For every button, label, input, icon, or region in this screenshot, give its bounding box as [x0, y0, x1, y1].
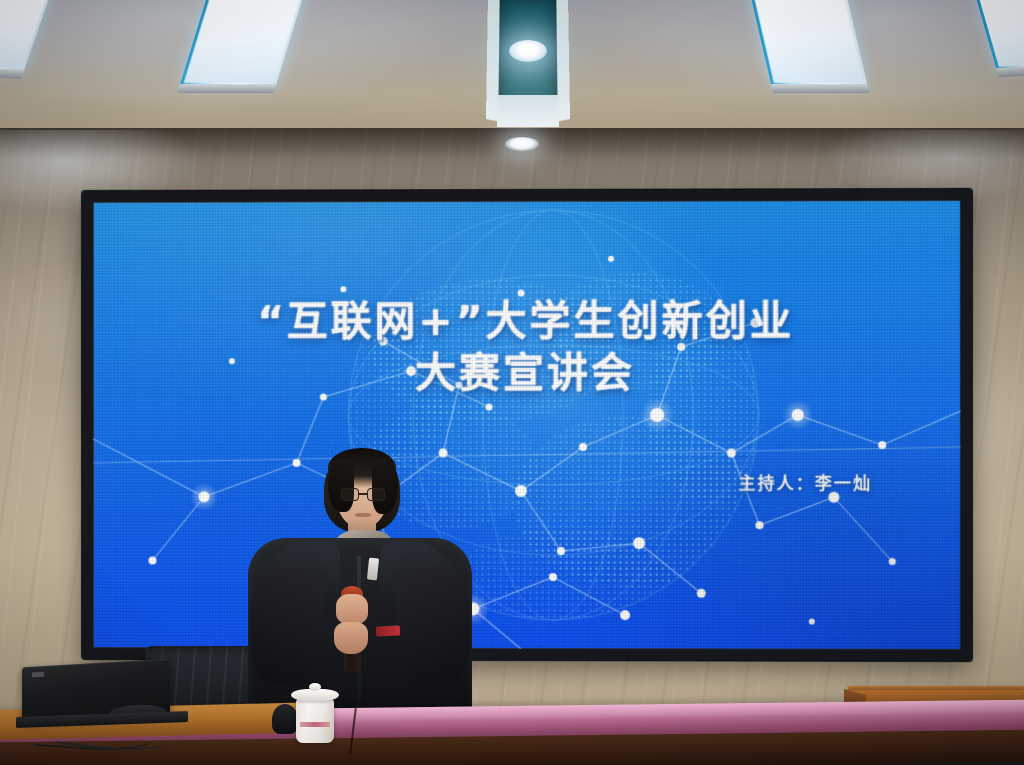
slide-title-line-1: “互联网+”大学生创新创业 [93, 298, 961, 345]
light-panel-lip [771, 84, 869, 93]
presenter-hair-fringe-right [372, 458, 398, 514]
glasses-icon [341, 488, 385, 501]
presenter-hand-lower [334, 622, 368, 654]
presenter-hair-fringe-left [328, 458, 354, 512]
presenter-hand-upper [336, 594, 368, 624]
presenter-speaker [248, 446, 472, 736]
microphone-stand-base [272, 704, 298, 734]
tea-cup-band [300, 722, 330, 727]
presenter-arm-left [250, 568, 324, 684]
glasses-bridge [359, 493, 367, 495]
ceiling-spotlight-icon [509, 40, 547, 62]
conference-hall-photo: “互联网+”大学生创新创业 大赛宣讲会 主持人：李一灿 [0, 0, 1024, 765]
slide-title-block: “互联网+”大学生创新创业 大赛宣讲会 [93, 298, 961, 396]
slide-host-label: 主持人：李一灿 [738, 469, 872, 494]
presenter-arm-right [396, 568, 470, 684]
glasses-lens-right [367, 488, 385, 501]
laptop-logo [32, 672, 44, 678]
ceiling-recess-base [497, 95, 559, 127]
glasses-lens-left [341, 488, 359, 501]
globe-network-graphic [93, 200, 961, 650]
presentation-slide: “互联网+”大学生创新创业 大赛宣讲会 主持人：李一灿 [93, 200, 961, 650]
slide-title-line-2: 大赛宣讲会 [93, 351, 961, 397]
jacket-brand-badge [376, 625, 400, 636]
tea-cup [296, 699, 334, 743]
presenter-mouth [355, 513, 371, 517]
wall-downlight-icon [505, 137, 539, 151]
led-video-wall: “互联网+”大学生创新创业 大赛宣讲会 主持人：李一灿 [82, 189, 972, 661]
tea-cup-lid-knob [309, 683, 321, 691]
light-panel-lip [178, 84, 277, 93]
